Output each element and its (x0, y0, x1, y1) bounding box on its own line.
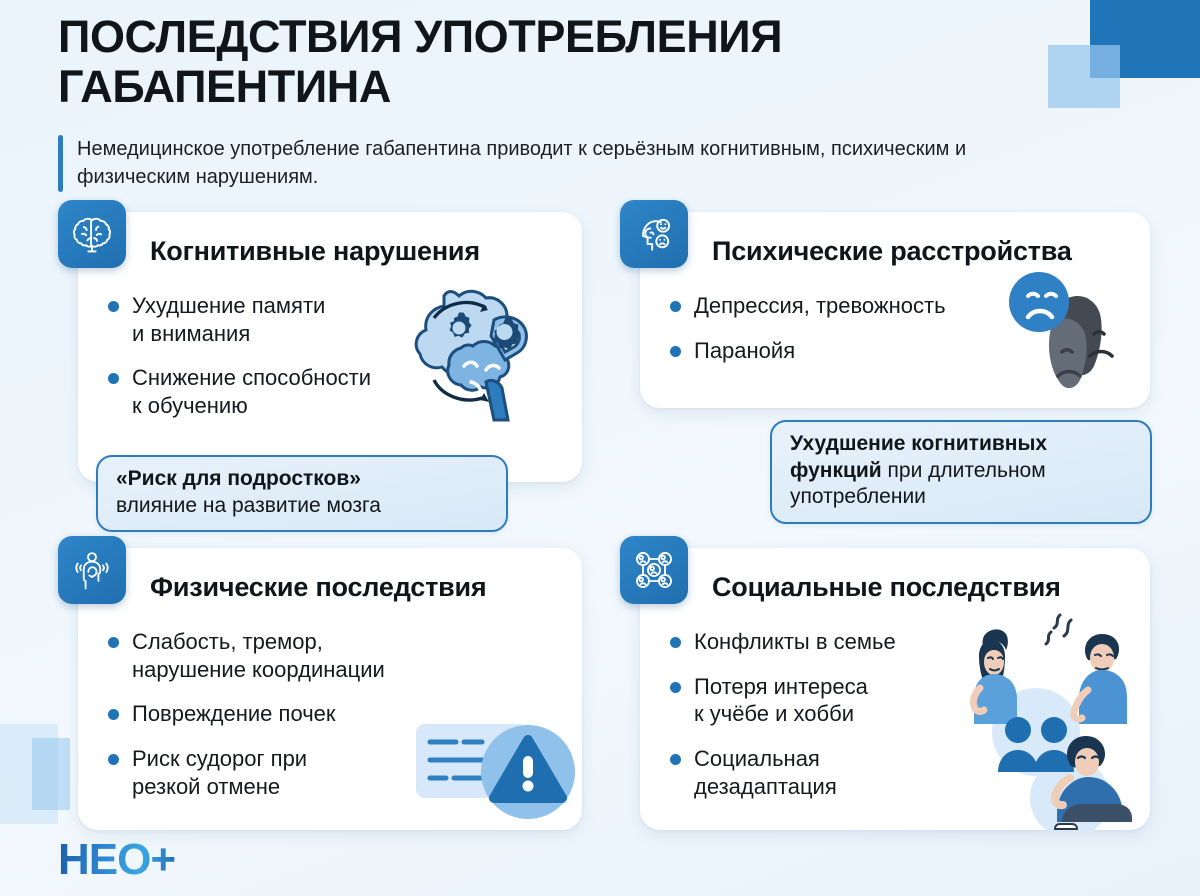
card-header: Когнитивные нарушения (78, 212, 582, 290)
page-title: ПОСЛЕДСТВИЯ УПОТРЕБЛЕНИЯ ГАБАПЕНТИНА (58, 12, 1058, 113)
list-item: Социальная дезадаптация (670, 745, 1130, 800)
list-item: Слабость, тремор, нарушение координации (108, 628, 562, 683)
bullet-text: Снижение способности к обучению (132, 364, 371, 419)
card-cognitive: Когнитивные нарушения Ухудшение памяти и… (78, 212, 582, 482)
list-item: Паранойя (670, 337, 1130, 365)
subtitle-accent-bar (58, 135, 63, 192)
card-mental: Психические расстройства Депрессия, трев… (640, 212, 1150, 408)
bullet-text: Риск судорог при резкой отмене (132, 745, 307, 800)
decor-square-top-right-light (1048, 45, 1120, 108)
bullet-text: Депрессия, тревожность (694, 292, 946, 320)
list-item: Конфликты в семье (670, 628, 1130, 656)
card-header: Социальные последствия (640, 548, 1150, 626)
bullet-dot (670, 346, 681, 357)
bullet-text: Повреждение почек (132, 700, 336, 728)
card-title: Когнитивные нарушения (150, 236, 480, 267)
list-item: Снижение способности к обучению (108, 364, 562, 419)
card-title: Социальные последствия (712, 572, 1061, 603)
bullet-dot (108, 709, 119, 720)
card-header: Физические последствия (78, 548, 582, 626)
bullet-dot (670, 637, 681, 648)
bullet-dot (108, 754, 119, 765)
brand-logo: НЕО+ (58, 838, 175, 882)
body-tremor-icon (58, 536, 126, 604)
bullet-text: Слабость, тремор, нарушение координации (132, 628, 385, 683)
card-bullet-list: Депрессия, тревожность Паранойя (640, 292, 1150, 364)
card-title: Психические расстройства (712, 236, 1072, 267)
bullet-dot (670, 682, 681, 693)
callout-teens-risk: «Риск для подростков» влияние на развити… (96, 455, 508, 532)
people-network-icon (620, 536, 688, 604)
list-item: Ухудшение памяти и внимания (108, 292, 562, 347)
bullet-text: Социальная дезадаптация (694, 745, 837, 800)
bullet-dot (108, 301, 119, 312)
bullet-dot (670, 301, 681, 312)
bullet-text: Ухудшение памяти и внимания (132, 292, 325, 347)
bullet-dot (670, 754, 681, 765)
list-item: Потеря интереса к учёбе и хобби (670, 673, 1130, 728)
head-emotions-icon (620, 200, 688, 268)
callout-bold-line: «Риск для подростков» (116, 466, 488, 493)
callout-bold-text: «Риск для подростков» (116, 467, 361, 490)
bullet-text: Конфликты в семье (694, 628, 896, 656)
card-bullet-list: Конфликты в семье Потеря интереса к учёб… (640, 628, 1150, 801)
page-header: ПОСЛЕДСТВИЯ УПОТРЕБЛЕНИЯ ГАБАПЕНТИНА Нем… (58, 12, 1058, 192)
subtitle-block: Немедицинское употребление габапентина п… (58, 135, 1058, 192)
callout-rest-text: влияние на развитие мозга (116, 493, 488, 520)
card-title: Физические последствия (150, 572, 487, 603)
card-social: Социальные последствия (640, 548, 1150, 830)
card-header: Психические расстройства (640, 212, 1150, 290)
card-bullet-list: Слабость, тремор, нарушение координации … (78, 628, 582, 801)
list-item: Риск судорог при резкой отмене (108, 745, 562, 800)
card-physical: Физические последствия Слабость, тремор,… (78, 548, 582, 830)
decor-square-bottom-left-light (32, 738, 70, 810)
bullet-text: Потеря интереса к учёбе и хобби (694, 673, 868, 728)
page-subtitle: Немедицинское употребление габапентина п… (77, 135, 1027, 192)
callout-mixed-line: Ухудшение когнитивных функций при длител… (790, 431, 1132, 511)
callout-long-term-cognition: Ухудшение когнитивных функций при длител… (770, 420, 1152, 524)
list-item: Повреждение почек (108, 700, 562, 728)
bullet-dot (108, 637, 119, 648)
brain-icon (58, 200, 126, 268)
list-item: Депрессия, тревожность (670, 292, 1130, 320)
bullet-dot (108, 373, 119, 384)
bullet-text: Паранойя (694, 337, 795, 365)
card-bullet-list: Ухудшение памяти и внимания Снижение спо… (78, 292, 582, 420)
